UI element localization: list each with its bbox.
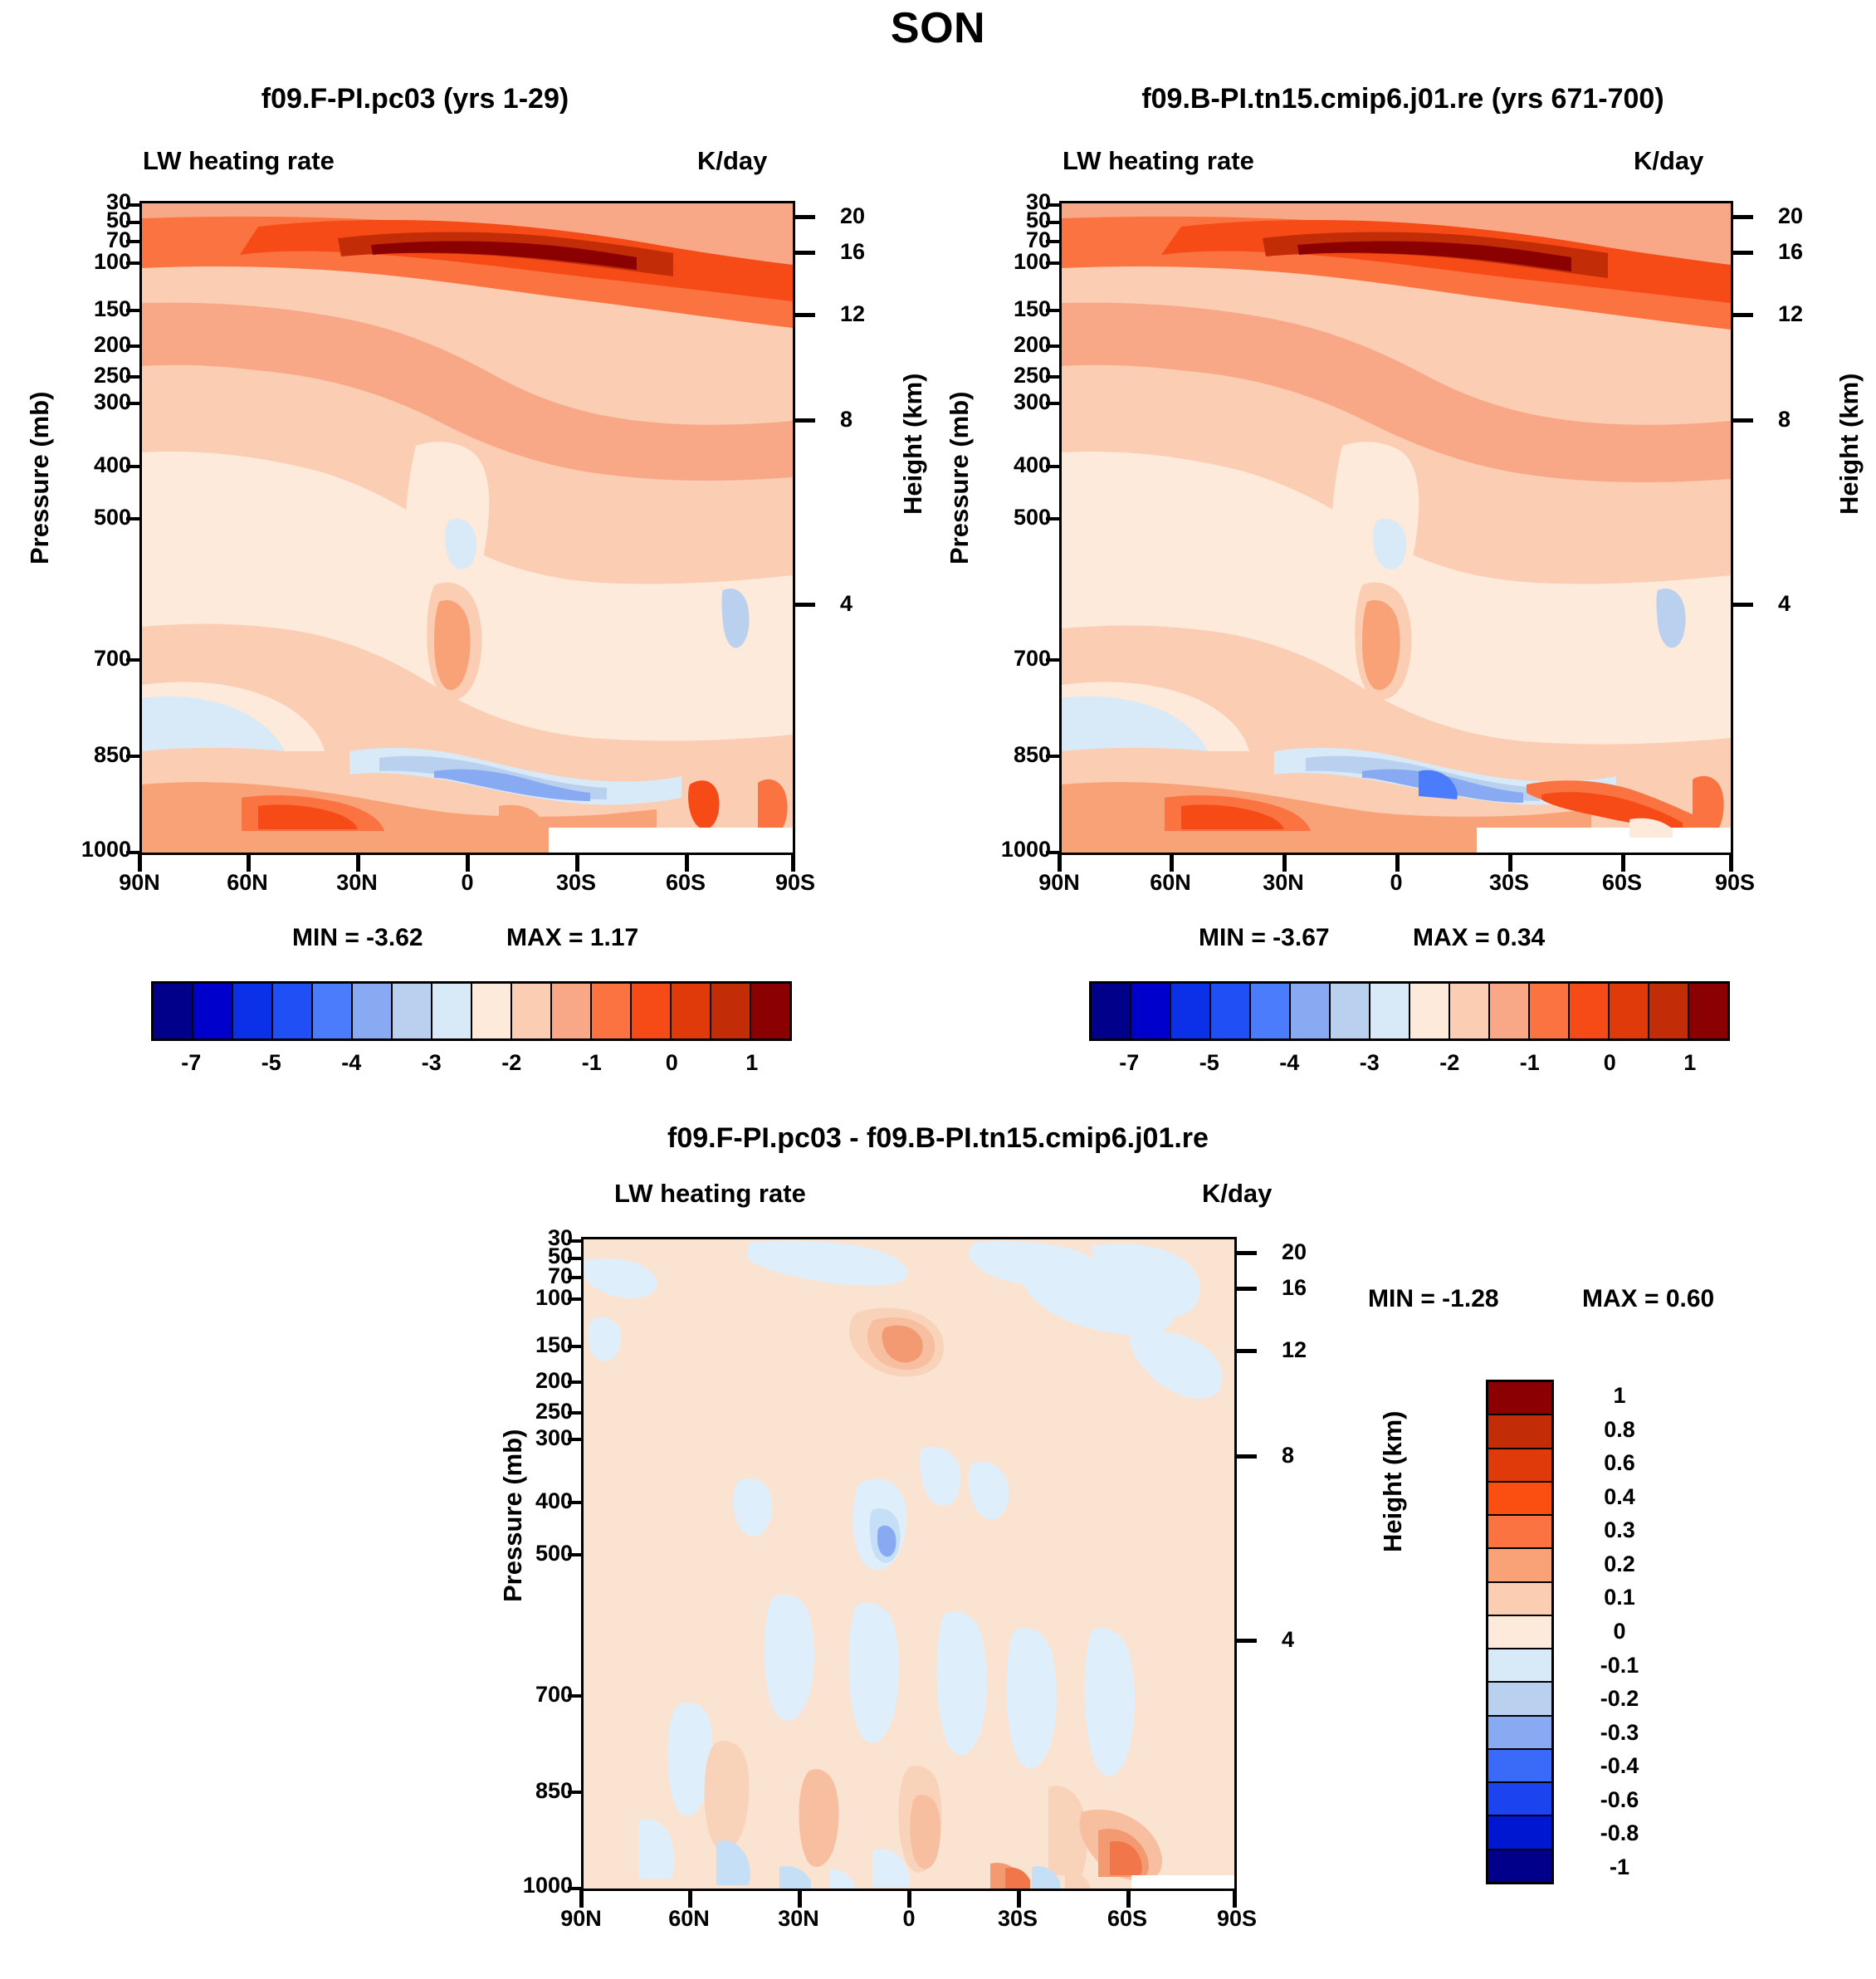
ytick-mark-diff-0	[568, 1239, 583, 1243]
ytick-mark-diff-8	[568, 1501, 583, 1504]
ytick-label-left-12: 1000	[42, 837, 131, 862]
colorbar-swatch-6	[393, 984, 432, 1038]
colorbar-diff-swatch-6	[1488, 1583, 1551, 1616]
xtick-label-right-2: 30N	[1243, 870, 1323, 896]
colorbar-swatch-5	[353, 984, 393, 1038]
colorbar-tick-label-7: 1	[1657, 1050, 1723, 1076]
ytick-mark-diff-7	[568, 1438, 583, 1441]
ytick-mark-left-8	[126, 465, 141, 468]
y2tick-label-right-0: 20	[1778, 203, 1803, 229]
colorbar-right-labels: -7-5-4-3-2-101	[1089, 1050, 1730, 1083]
ytick-label-left-9: 500	[51, 505, 131, 530]
panel-left-height-axis-title: Height (km)	[898, 374, 928, 516]
ytick-mark-left-7	[126, 402, 141, 405]
ytick-label-right-5: 200	[971, 332, 1051, 358]
y2tick-label-diff-2: 12	[1282, 1337, 1307, 1363]
colorbar-diff-tick-label-9: -0.2	[1566, 1686, 1673, 1712]
y2tick-mark-left-0	[795, 215, 815, 219]
y2tick-label-diff-1: 16	[1282, 1275, 1307, 1301]
ytick-label-right-9: 500	[971, 505, 1051, 530]
figure-root: SON f09.F-PI.pc03 (yrs 1-29) LW heating …	[0, 0, 1876, 1979]
ytick-label-left-6: 250	[51, 363, 131, 388]
y2tick-mark-diff-2	[1237, 1349, 1257, 1353]
xtick-mark-diff-3	[907, 1889, 911, 1908]
panel-title-left: f09.F-PI.pc03 (yrs 1-29)	[50, 83, 780, 115]
minmax-right-max: MAX = 0.34	[1413, 924, 1545, 952]
xtick-label-diff-2: 30N	[759, 1906, 838, 1932]
ytick-label-diff-7: 300	[493, 1425, 573, 1451]
colorbar-swatch-15	[751, 984, 789, 1038]
colorbar-swatch-8	[1410, 984, 1450, 1038]
panel-right-variable-label: LW heating rate	[1063, 146, 1254, 176]
y2tick-mark-left-2	[795, 313, 815, 317]
y2tick-mark-diff-0	[1237, 1251, 1257, 1255]
colorbar-tick-label-0: -7	[1096, 1050, 1162, 1076]
ytick-mark-diff-11	[568, 1791, 583, 1794]
ytick-mark-diff-6	[568, 1411, 583, 1415]
ytick-label-left-4: 150	[51, 296, 131, 322]
xtick-mark-diff-5	[1126, 1889, 1131, 1908]
panel-diff-variable-label: LW heating rate	[614, 1179, 806, 1209]
ytick-label-right-4: 150	[971, 296, 1051, 322]
xtick-mark-diff-4	[1017, 1889, 1021, 1908]
colorbar-diff-tick-label-8: -0.1	[1566, 1653, 1673, 1678]
y2tick-mark-left-1	[795, 251, 815, 255]
ytick-label-diff-8: 400	[493, 1488, 573, 1514]
minmax-diff-min: MIN = -1.28	[1368, 1285, 1499, 1313]
colorbar-diff-swatch-9	[1488, 1683, 1551, 1716]
panel-title-right: f09.B-PI.tn15.cmip6.j01.re (yrs 671-700)	[980, 83, 1826, 115]
colorbar-swatch-4	[1251, 984, 1291, 1038]
ytick-label-diff-5: 200	[493, 1368, 573, 1394]
colorbar-swatch-5	[1291, 984, 1331, 1038]
ytick-mark-right-9	[1046, 517, 1061, 520]
xtick-label-diff-3: 0	[869, 1906, 949, 1932]
ytick-mark-left-4	[126, 309, 141, 312]
colorbar-tick-label-3: -3	[1336, 1050, 1403, 1076]
xtick-mark-right-2	[1282, 853, 1287, 872]
colorbar-swatch-11	[592, 984, 632, 1038]
ytick-mark-right-4	[1046, 309, 1061, 312]
colorbar-diff-swatch-11	[1488, 1750, 1551, 1783]
colorbar-diff-tick-label-11: -0.4	[1566, 1753, 1673, 1779]
colorbar-diff-swatch-0	[1488, 1382, 1551, 1415]
colorbar-swatch-12	[632, 984, 672, 1038]
ytick-mark-right-11	[1046, 755, 1061, 758]
colorbar-diff-tick-label-5: 0.2	[1566, 1551, 1673, 1577]
colorbar-right[interactable]	[1089, 981, 1730, 1041]
colorbar-swatch-13	[672, 984, 711, 1038]
ytick-label-right-3: 100	[971, 249, 1051, 275]
plot-area-diff[interactable]	[581, 1237, 1237, 1891]
xtick-mark-left-2	[356, 853, 360, 872]
xtick-label-left-3: 0	[427, 870, 507, 896]
colorbar-diff-tick-label-3: 0.4	[1566, 1484, 1673, 1510]
colorbar-tick-label-4: -2	[478, 1050, 545, 1076]
colorbar-diff-tick-label-6: 0.1	[1566, 1585, 1673, 1610]
colorbar-diff-tick-label-14: -1	[1566, 1854, 1673, 1880]
colorbar-swatch-10	[552, 984, 592, 1038]
colorbar-swatch-9	[1450, 984, 1490, 1038]
colorbar-swatch-6	[1331, 984, 1370, 1038]
ytick-mark-left-0	[126, 203, 141, 207]
xtick-mark-diff-0	[579, 1889, 584, 1908]
colorbar-swatch-14	[1649, 984, 1689, 1038]
y2tick-mark-right-1	[1733, 251, 1753, 255]
y2tick-label-diff-0: 20	[1282, 1239, 1307, 1265]
colorbar-diff-swatch-4	[1488, 1516, 1551, 1549]
ytick-mark-right-3	[1046, 261, 1061, 265]
xtick-mark-diff-6	[1233, 1889, 1237, 1908]
ytick-label-diff-10: 700	[493, 1682, 573, 1708]
xtick-mark-right-0	[1058, 853, 1062, 872]
xtick-mark-right-4	[1508, 853, 1512, 872]
panel-left-variable-label: LW heating rate	[143, 146, 335, 176]
ytick-mark-right-0	[1046, 203, 1061, 207]
ytick-mark-left-6	[126, 375, 141, 379]
ytick-mark-left-3	[126, 261, 141, 265]
xtick-label-left-4: 30S	[536, 870, 616, 896]
colorbar-diff-tick-label-1: 0.8	[1566, 1417, 1673, 1443]
ytick-label-right-12: 1000	[961, 837, 1051, 862]
y2tick-mark-diff-4	[1237, 1639, 1257, 1643]
ytick-mark-left-5	[126, 344, 141, 348]
minmax-diff-max: MAX = 0.60	[1582, 1285, 1714, 1313]
ytick-mark-right-2	[1046, 240, 1061, 243]
ytick-mark-left-2	[126, 240, 141, 243]
panel-right-pressure-axis-title: Pressure (mb)	[945, 392, 975, 564]
colorbar-swatch-3	[273, 984, 313, 1038]
minmax-left-min: MIN = -3.62	[292, 924, 423, 952]
colorbar-tick-label-5: -1	[559, 1050, 625, 1076]
ytick-mark-left-11	[126, 755, 141, 758]
colorbar-diff-swatch-14	[1488, 1850, 1551, 1882]
y2tick-mark-right-2	[1733, 313, 1753, 317]
ytick-label-diff-4: 150	[493, 1332, 573, 1358]
colorbar-tick-label-7: 1	[719, 1050, 785, 1076]
colorbar-tick-label-5: -1	[1497, 1050, 1563, 1076]
xtick-mark-diff-1	[688, 1889, 692, 1908]
xtick-label-right-4: 30S	[1469, 870, 1549, 896]
panel-diff-units-label: K/day	[1202, 1179, 1272, 1209]
ytick-mark-diff-5	[568, 1380, 583, 1384]
colorbar-diff-tick-label-13: -0.8	[1566, 1820, 1673, 1846]
ytick-mark-diff-3	[568, 1297, 583, 1301]
colorbar-swatch-0	[154, 984, 193, 1038]
ytick-mark-right-6	[1046, 375, 1061, 379]
colorbar-swatch-8	[472, 984, 512, 1038]
colorbar-diff-swatch-13	[1488, 1816, 1551, 1850]
colorbar-diff-swatch-12	[1488, 1783, 1551, 1816]
ytick-mark-right-10	[1046, 658, 1061, 662]
ytick-label-left-3: 100	[51, 249, 131, 275]
y2tick-mark-right-3	[1733, 418, 1753, 423]
colorbar-tick-label-3: -3	[398, 1050, 465, 1076]
colorbar-tick-label-6: 0	[638, 1050, 705, 1076]
xtick-label-right-6: 90S	[1695, 870, 1775, 896]
colorbar-diff-tick-label-10: -0.3	[1566, 1720, 1673, 1746]
ytick-label-left-7: 300	[51, 389, 131, 415]
colorbar-tick-label-2: -4	[318, 1050, 384, 1076]
colorbar-swatch-7	[1370, 984, 1410, 1038]
xtick-mark-left-1	[247, 853, 251, 872]
y2tick-label-left-1: 16	[840, 239, 865, 265]
ytick-mark-right-8	[1046, 465, 1061, 468]
ytick-mark-diff-10	[568, 1694, 583, 1698]
y2tick-label-left-2: 12	[840, 301, 865, 327]
y2tick-label-right-1: 16	[1778, 239, 1803, 265]
xtick-label-left-1: 60N	[208, 870, 287, 896]
y2tick-label-right-2: 12	[1778, 301, 1803, 327]
colorbar-tick-label-1: -5	[238, 1050, 305, 1076]
ytick-label-right-7: 300	[971, 389, 1051, 415]
xtick-mark-right-5	[1621, 853, 1625, 872]
ytick-label-right-8: 400	[971, 452, 1051, 478]
colorbar-swatch-13	[1610, 984, 1649, 1038]
xtick-label-diff-0: 90N	[541, 1906, 621, 1932]
xtick-label-right-5: 60S	[1582, 870, 1662, 896]
panel-left-pressure-axis-title: Pressure (mb)	[25, 392, 55, 564]
colorbar-left[interactable]	[151, 981, 792, 1041]
ytick-label-diff-6: 250	[493, 1399, 573, 1424]
ytick-label-left-8: 400	[51, 452, 131, 478]
colorbar-swatch-10	[1490, 984, 1530, 1038]
ytick-label-right-11: 850	[971, 742, 1051, 768]
colorbar-diff-tick-label-4: 0.3	[1566, 1517, 1673, 1543]
y2tick-mark-right-0	[1733, 215, 1753, 219]
xtick-mark-left-5	[685, 853, 689, 872]
y2tick-label-right-4: 4	[1778, 591, 1791, 617]
ytick-label-diff-9: 500	[493, 1541, 573, 1566]
colorbar-diff-tick-label-0: 1	[1566, 1383, 1673, 1409]
xtick-mark-left-0	[138, 853, 142, 872]
ytick-label-diff-12: 1000	[483, 1873, 573, 1898]
colorbar-swatch-9	[512, 984, 552, 1038]
ytick-mark-left-10	[126, 658, 141, 662]
ytick-label-left-11: 850	[51, 742, 131, 768]
ytick-label-right-6: 250	[971, 363, 1051, 388]
colorbar-diff-swatch-3	[1488, 1483, 1551, 1516]
colorbar-swatch-15	[1689, 984, 1727, 1038]
ytick-label-diff-11: 850	[493, 1778, 573, 1804]
xtick-label-diff-4: 30S	[978, 1906, 1058, 1932]
colorbar-tick-label-2: -4	[1256, 1050, 1322, 1076]
colorbar-swatch-12	[1570, 984, 1610, 1038]
panel-left-units-label: K/day	[697, 146, 767, 176]
y2tick-label-diff-4: 4	[1282, 1627, 1294, 1653]
panel-diff-pressure-axis-title: Pressure (mb)	[498, 1429, 528, 1602]
colorbar-swatch-4	[313, 984, 353, 1038]
panel-right-height-axis-title: Height (km)	[1834, 374, 1864, 516]
colorbar-left-labels: -7-5-4-3-2-101	[151, 1050, 792, 1083]
panel-title-diff: f09.F-PI.pc03 - f09.B-PI.tn15.cmip6.j01.…	[465, 1122, 1411, 1155]
ytick-mark-diff-2	[568, 1276, 583, 1279]
xtick-label-left-6: 90S	[755, 870, 835, 896]
ytick-mark-diff-1	[568, 1257, 583, 1260]
ytick-label-right-10: 700	[971, 646, 1051, 672]
xtick-mark-left-6	[791, 853, 795, 872]
plot-area-right[interactable]	[1059, 201, 1733, 855]
ytick-mark-diff-9	[568, 1553, 583, 1556]
colorbar-diff-swatch-8	[1488, 1649, 1551, 1683]
xtick-label-left-5: 60S	[646, 870, 725, 896]
colorbar-swatch-11	[1530, 984, 1570, 1038]
xtick-mark-right-3	[1395, 853, 1400, 872]
colorbar-tick-label-6: 0	[1576, 1050, 1643, 1076]
colorbar-swatch-1	[1131, 984, 1171, 1038]
xtick-label-right-1: 60N	[1131, 870, 1210, 896]
y2tick-label-left-0: 20	[840, 203, 865, 229]
colorbar-swatch-1	[193, 984, 233, 1038]
xtick-label-right-0: 90N	[1019, 870, 1099, 896]
figure-title: SON	[0, 3, 1876, 53]
minmax-left-max: MAX = 1.17	[506, 924, 638, 952]
panel-right-units-label: K/day	[1634, 146, 1703, 176]
minmax-right-min: MIN = -3.67	[1199, 924, 1330, 952]
ytick-mark-left-9	[126, 517, 141, 520]
y2tick-label-diff-3: 8	[1282, 1443, 1294, 1468]
xtick-mark-diff-2	[798, 1889, 802, 1908]
ytick-mark-right-5	[1046, 344, 1061, 348]
xtick-label-diff-1: 60N	[649, 1906, 729, 1932]
xtick-label-diff-6: 90S	[1197, 1906, 1277, 1932]
xtick-label-left-2: 30N	[317, 870, 397, 896]
colorbar-diff[interactable]	[1486, 1380, 1554, 1884]
y2tick-label-right-3: 8	[1778, 407, 1791, 432]
y2tick-mark-left-3	[795, 418, 815, 423]
y2tick-label-left-4: 4	[840, 591, 853, 617]
colorbar-diff-labels: 10.80.60.40.30.20.10-0.1-0.2-0.3-0.4-0.6…	[1566, 1380, 1682, 1884]
colorbar-diff-swatch-7	[1488, 1616, 1551, 1649]
colorbar-diff-swatch-10	[1488, 1717, 1551, 1750]
colorbar-swatch-2	[1171, 984, 1211, 1038]
ytick-label-diff-3: 100	[493, 1285, 573, 1311]
colorbar-diff-swatch-5	[1488, 1549, 1551, 1582]
colorbar-swatch-7	[432, 984, 472, 1038]
xtick-mark-right-6	[1729, 853, 1733, 872]
colorbar-tick-label-1: -5	[1176, 1050, 1243, 1076]
ytick-mark-right-1	[1046, 221, 1061, 224]
ytick-mark-left-1	[126, 221, 141, 224]
y2tick-mark-diff-3	[1237, 1454, 1257, 1459]
xtick-label-diff-5: 60S	[1087, 1906, 1167, 1932]
colorbar-diff-tick-label-7: 0	[1566, 1619, 1673, 1644]
plot-area-left[interactable]	[139, 201, 795, 855]
y2tick-label-left-3: 8	[840, 407, 853, 432]
colorbar-swatch-14	[711, 984, 751, 1038]
colorbar-diff-swatch-2	[1488, 1449, 1551, 1483]
ytick-label-left-5: 200	[51, 332, 131, 358]
colorbar-swatch-3	[1211, 984, 1251, 1038]
xtick-mark-right-1	[1170, 853, 1174, 872]
xtick-label-right-3: 0	[1356, 870, 1436, 896]
panel-diff-height-axis-title: Height (km)	[1378, 1411, 1408, 1553]
y2tick-mark-left-4	[795, 603, 815, 607]
xtick-mark-left-3	[466, 853, 470, 872]
ytick-mark-right-7	[1046, 402, 1061, 405]
colorbar-diff-swatch-1	[1488, 1415, 1551, 1449]
xtick-mark-left-4	[575, 853, 579, 872]
colorbar-tick-label-0: -7	[158, 1050, 224, 1076]
colorbar-diff-tick-label-2: 0.6	[1566, 1450, 1673, 1476]
colorbar-swatch-0	[1092, 984, 1131, 1038]
y2tick-mark-diff-1	[1237, 1287, 1257, 1291]
colorbar-diff-tick-label-12: -0.6	[1566, 1787, 1673, 1813]
colorbar-swatch-2	[233, 984, 273, 1038]
xtick-label-left-0: 90N	[100, 870, 179, 896]
y2tick-mark-right-4	[1733, 603, 1753, 607]
ytick-mark-diff-4	[568, 1345, 583, 1348]
ytick-label-left-10: 700	[51, 646, 131, 672]
colorbar-tick-label-4: -2	[1416, 1050, 1483, 1076]
